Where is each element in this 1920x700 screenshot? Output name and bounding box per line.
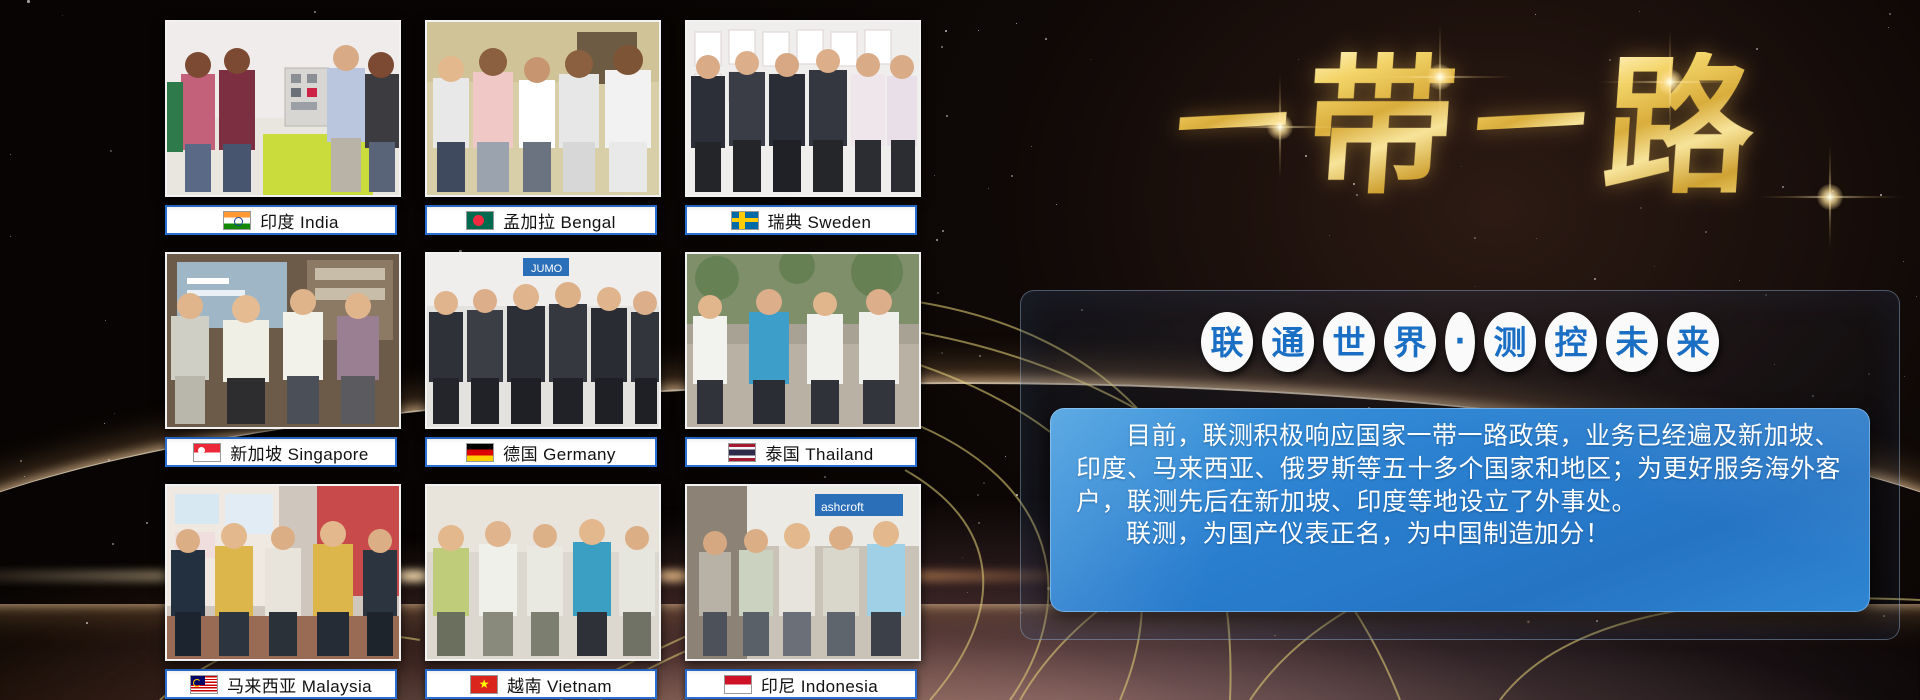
vietnam-flag-icon <box>470 675 498 694</box>
slogan-badge-7: 未 <box>1606 312 1658 372</box>
caption-text: 新加坡 Singapore <box>230 440 368 465</box>
thailand-flag-icon <box>728 443 756 462</box>
sweden-flag-icon <box>731 211 759 230</box>
gallery-cell-thailand[interactable]: 泰国 Thailand <box>685 252 917 467</box>
calligraphy-title: 一 带 一 路 <box>1030 12 1900 242</box>
photo-singapore <box>165 252 401 429</box>
slogan-separator-dot: · <box>1445 312 1475 372</box>
caption-bengal: 孟加拉 Bengal <box>425 205 657 235</box>
caption-singapore: 新加坡 Singapore <box>165 437 397 467</box>
description-paragraph-2: 联测，为国产仪表正名，为中国制造加分！ <box>1076 518 1844 551</box>
slogan-badge-4: 界 <box>1384 312 1436 372</box>
photo-india <box>165 20 401 197</box>
caption-vietnam: 越南 Vietnam <box>425 669 657 699</box>
caption-text: 孟加拉 Bengal <box>503 208 616 233</box>
caption-text: 印度 India <box>260 208 339 233</box>
svg-text:ashcroft: ashcroft <box>821 500 864 514</box>
singapore-flag-icon <box>193 443 221 462</box>
photo-malaysia <box>165 484 401 661</box>
caption-germany: 德国 Germany <box>425 437 657 467</box>
photo-indonesia: ashcroft <box>685 484 921 661</box>
slogan-row: 联 通 世 界 · 测 控 未 来 <box>1020 312 1900 372</box>
bangladesh-flag-icon <box>466 211 494 230</box>
caption-text: 瑞典 Sweden <box>768 208 872 233</box>
photo-sweden <box>685 20 921 197</box>
description-paragraph-1: 目前，联测积极响应国家一带一路政策，业务已经遍及新加坡、印度、马来西亚、俄罗斯等… <box>1076 420 1844 518</box>
slogan-badge-2: 通 <box>1262 312 1314 372</box>
sparkle-core-1 <box>1267 114 1293 140</box>
gallery-cell-singapore[interactable]: 新加坡 Singapore <box>165 252 397 467</box>
caption-malaysia: 马来西亚 Malaysia <box>165 669 397 699</box>
description-box: 目前，联测积极响应国家一带一路政策，业务已经遍及新加坡、印度、马来西亚、俄罗斯等… <box>1050 408 1870 612</box>
photo-thailand <box>685 252 921 429</box>
info-panel: 联 通 世 界 · 测 控 未 来 目前，联测积极响应国家一带一路政策，业务已经… <box>1020 290 1900 640</box>
indonesia-flag-icon <box>724 675 752 694</box>
svg-text:JUMO: JUMO <box>531 263 563 275</box>
sparkle-core-3 <box>1657 69 1683 95</box>
sparkle-core-2 <box>1427 64 1453 90</box>
slogan-badge-1: 联 <box>1201 312 1253 372</box>
india-flag-icon <box>223 211 251 230</box>
slogan-badge-3: 世 <box>1323 312 1375 372</box>
gallery-cell-indonesia[interactable]: ashcroft <box>685 484 917 699</box>
gallery-cell-malaysia[interactable]: 马来西亚 Malaysia <box>165 484 397 699</box>
caption-sweden: 瑞典 Sweden <box>685 205 917 235</box>
slogan-badge-8: 来 <box>1667 312 1719 372</box>
caption-text: 德国 Germany <box>503 440 616 465</box>
belt-and-road-banner: 印度 India <box>0 0 1920 700</box>
sparkle-core-4 <box>1817 184 1843 210</box>
photo-vietnam <box>425 484 661 661</box>
photo-bengal <box>425 20 661 197</box>
gallery-cell-germany[interactable]: JUMO <box>425 252 657 467</box>
slogan-badge-6: 控 <box>1545 312 1597 372</box>
gallery-cell-sweden[interactable]: 瑞典 Sweden <box>685 20 917 235</box>
caption-thailand: 泰国 Thailand <box>685 437 917 467</box>
malaysia-flag-icon <box>190 675 218 694</box>
caption-india: 印度 India <box>165 205 397 235</box>
gallery-cell-india[interactable]: 印度 India <box>165 20 397 235</box>
calligraphy-char-3: 一 <box>1469 68 1592 186</box>
gallery-cell-bengal[interactable]: 孟加拉 Bengal <box>425 20 657 235</box>
germany-flag-icon <box>466 443 494 462</box>
slogan-badge-5: 测 <box>1484 312 1536 372</box>
country-photo-grid: 印度 India <box>165 20 917 680</box>
caption-text: 马来西亚 Malaysia <box>227 672 372 697</box>
caption-indonesia: 印尼 Indonesia <box>685 669 917 699</box>
caption-text: 泰国 Thailand <box>765 440 873 465</box>
caption-text: 越南 Vietnam <box>507 672 612 697</box>
photo-germany: JUMO <box>425 252 661 429</box>
gallery-cell-vietnam[interactable]: 越南 Vietnam <box>425 484 657 699</box>
caption-text: 印尼 Indonesia <box>761 672 878 697</box>
